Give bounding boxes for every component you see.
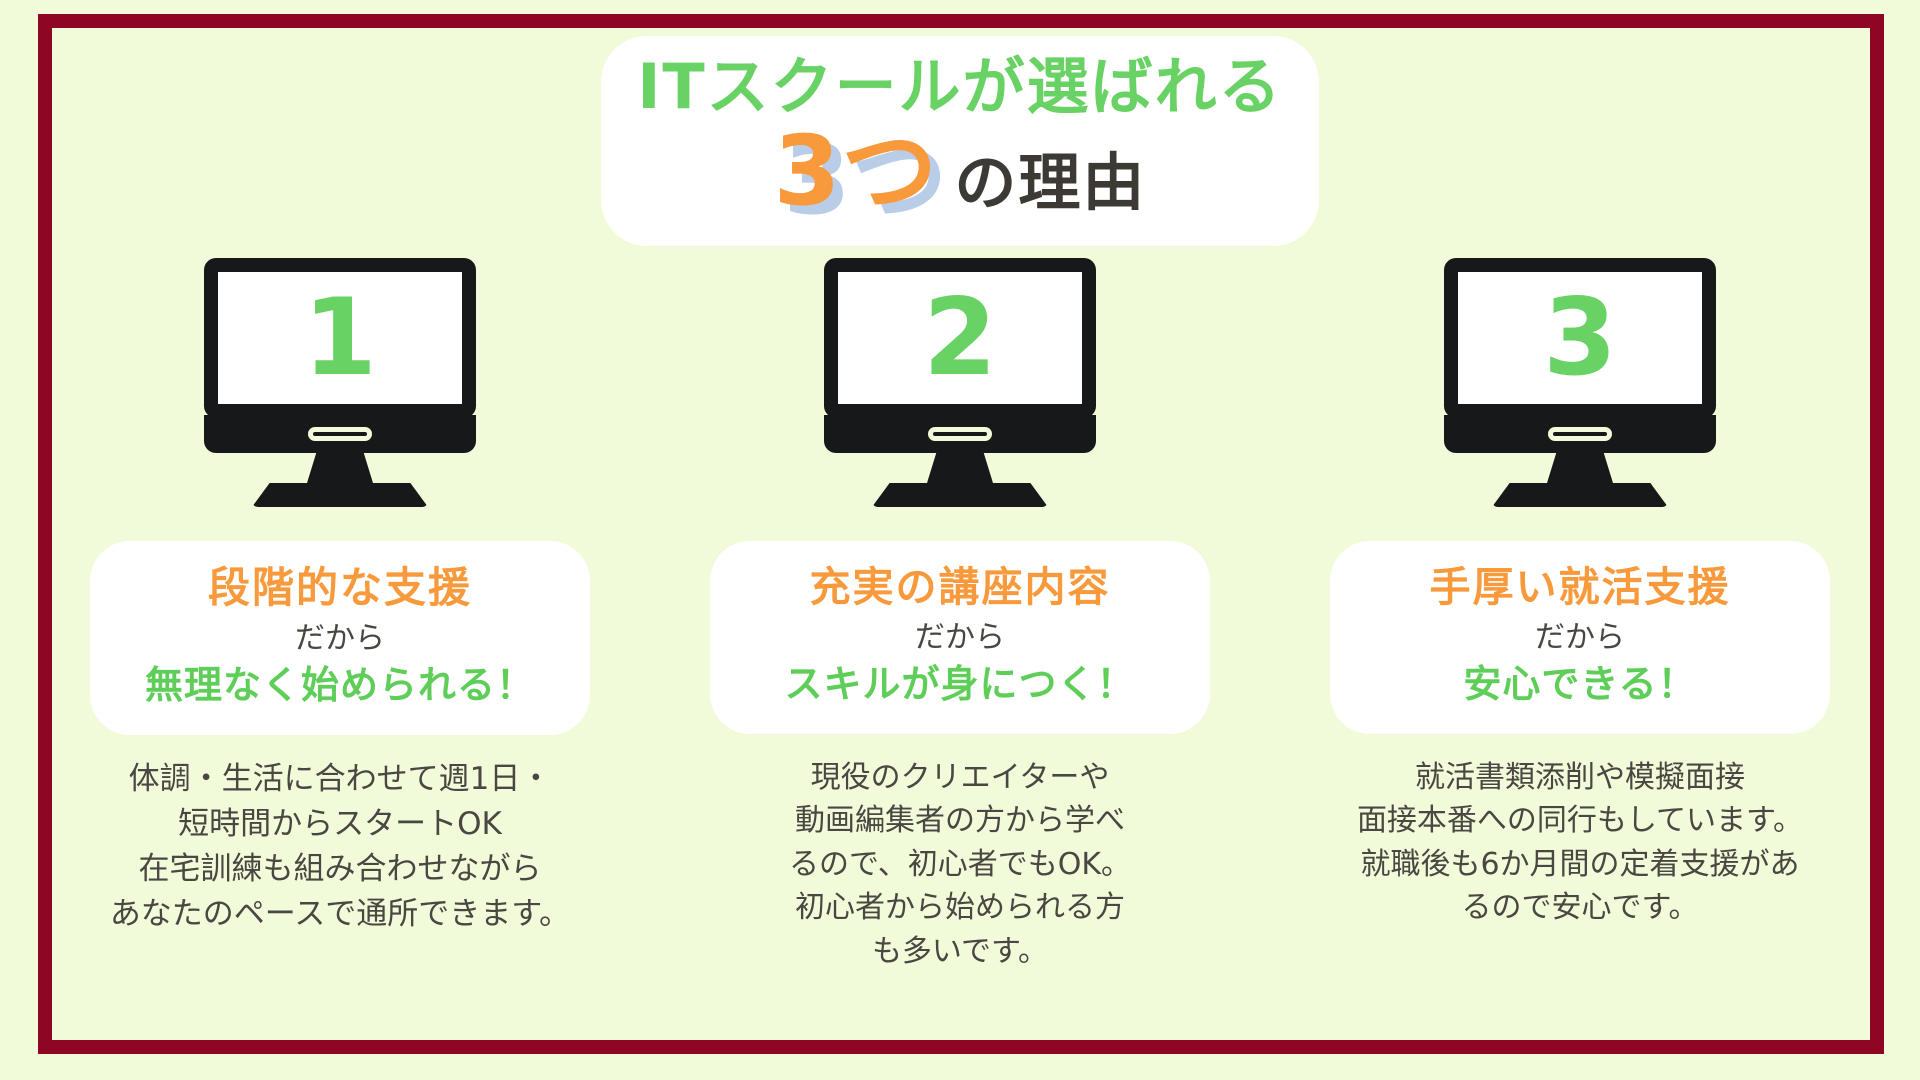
monitor-number-3: 3 (1543, 285, 1617, 391)
monitor-base-2 (872, 483, 1048, 507)
desc-line: あなたのペースで通所できます。 (70, 892, 610, 937)
monitor-icon-2: 2 (820, 258, 1100, 507)
desc-line: るので安心です。 (1310, 886, 1850, 930)
card-title-3: 手厚い就活支援 (1348, 563, 1812, 612)
desc-line: 就職後も6か月間の定着支援があ (1310, 843, 1850, 887)
monitor-number-1: 1 (303, 285, 377, 391)
monitor-chin-1 (204, 415, 476, 453)
reason-column-2: 2 充実の講座内容 だから スキルが身につく！ 現役のクリエイターや 動画編集者… (680, 258, 1240, 973)
desc-line: も多いです。 (690, 930, 1230, 974)
desc-line: 動画編集者の方から学べ (690, 799, 1230, 843)
monitor-neck-2 (927, 453, 993, 483)
monitor-chin-2 (824, 415, 1096, 453)
card-bridge-2: だから (728, 620, 1192, 656)
monitor-icon-3: 3 (1440, 258, 1720, 507)
monitor-base-3 (1492, 483, 1668, 507)
monitor-screen-2: 2 (824, 258, 1096, 418)
card-punch-2: スキルが身につく！ (728, 662, 1192, 708)
desc-line: 面接本番への同行もしています。 (1310, 799, 1850, 843)
reason-card-2: 充実の講座内容 だから スキルが身につく！ (710, 541, 1210, 734)
monitor-base-1 (252, 483, 428, 507)
desc-line: 就活書類添削や模擬面接 (1310, 756, 1850, 800)
reason-description-2: 現役のクリエイターや 動画編集者の方から学べ るので、初心者でもOK。 初心者か… (690, 756, 1230, 974)
title-banner: ITスクールが選ばれる 3つ の理由 (601, 36, 1319, 246)
title-line-1: ITスクールが選ばれる (631, 54, 1289, 119)
monitor-neck-3 (1547, 453, 1613, 483)
card-bridge-3: だから (1348, 620, 1812, 656)
desc-line: 現役のクリエイターや (690, 756, 1230, 800)
desc-line: 在宅訓練も組み合わせながら (70, 847, 610, 892)
monitor-chin-3 (1444, 415, 1716, 453)
card-punch-1: 無理なく始められる！ (108, 663, 572, 709)
monitor-notch-icon-2 (928, 427, 992, 441)
reason-description-3: 就活書類添削や模擬面接 面接本番への同行もしています。 就職後も6か月間の定着支… (1310, 756, 1850, 930)
monitor-number-2: 2 (923, 285, 997, 391)
title-suffix: の理由 (954, 150, 1146, 215)
monitor-notch-icon-3 (1548, 427, 1612, 441)
reason-card-3: 手厚い就活支援 だから 安心できる！ (1330, 541, 1830, 734)
monitor-icon-1: 1 (200, 258, 480, 507)
reason-column-1: 1 段階的な支援 だから 無理なく始められる！ 体調・生活に合わせて週1日・ 短… (60, 258, 620, 937)
title-line-2: 3つ の理由 (631, 121, 1289, 222)
card-title-2: 充実の講座内容 (728, 563, 1192, 612)
monitor-neck-1 (307, 453, 373, 483)
reason-card-1: 段階的な支援 だから 無理なく始められる！ (90, 541, 590, 735)
card-title-1: 段階的な支援 (108, 563, 572, 613)
reasons-container: 1 段階的な支援 だから 無理なく始められる！ 体調・生活に合わせて週1日・ 短… (60, 258, 1860, 973)
card-bridge-1: だから (108, 621, 572, 657)
monitor-screen-3: 3 (1444, 258, 1716, 418)
monitor-screen-1: 1 (204, 258, 476, 418)
reason-column-3: 3 手厚い就活支援 だから 安心できる！ 就活書類添削や模擬面接 面接本番への同… (1300, 258, 1860, 930)
title-number-emphasis: 3つ (774, 121, 939, 222)
desc-line: 体調・生活に合わせて週1日・ (70, 757, 610, 802)
reason-description-1: 体調・生活に合わせて週1日・ 短時間からスタートOK 在宅訓練も組み合わせながら… (70, 757, 610, 937)
desc-line: 短時間からスタートOK (70, 802, 610, 847)
desc-line: るので、初心者でもOK。 (690, 843, 1230, 887)
card-punch-3: 安心できる！ (1348, 662, 1812, 708)
poster-root: ITスクールが選ばれる 3つ の理由 1 段階的な支援 だから 無理なく始 (0, 0, 1920, 1080)
desc-line: 初心者から始められる方 (690, 886, 1230, 930)
monitor-notch-icon-1 (308, 427, 372, 441)
